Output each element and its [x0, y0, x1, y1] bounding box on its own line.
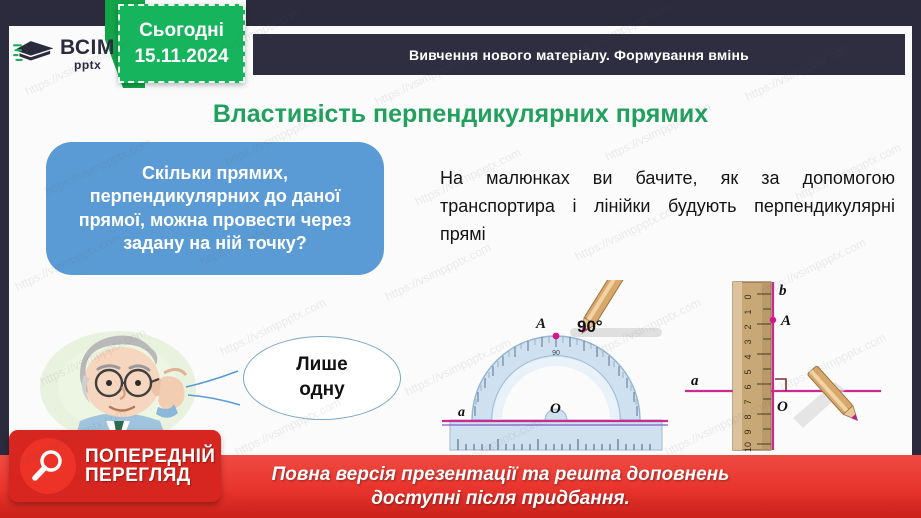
speech-bubble: Лише одну — [243, 336, 401, 420]
question-box: Скільки прямих, перпендикулярних до дано… — [46, 142, 384, 275]
label-line-b: b — [779, 283, 787, 299]
ruler-tick-10: 10 — [743, 442, 753, 452]
speech-bubble-line1: Лише — [296, 353, 347, 378]
logo-subtitle: pptx — [74, 59, 115, 71]
preview-button[interactable]: ПОПЕРЕДНІЙ ПЕРЕГЛЯД — [9, 430, 221, 502]
label-point-a: A — [780, 313, 791, 329]
ruler-tick-1: 1 — [743, 309, 753, 314]
label-point-o: O — [777, 399, 788, 415]
preview-button-line1: ПОПЕРЕДНІЙ — [85, 447, 215, 466]
logo-title: ВСІМ — [60, 37, 115, 58]
date-badge: Сьогодні 15.11.2024 — [118, 4, 245, 83]
ruler-tick-4: 4 — [743, 354, 753, 359]
ruler-tick-3: 3 — [743, 339, 753, 344]
speech-bubble-line2: одну — [299, 378, 344, 403]
ruler-tick-2: 2 — [743, 324, 753, 329]
intro-paragraph: На малюнках ви бачите, як за допомогою т… — [440, 165, 895, 249]
ruler-tick-9: 9 — [743, 429, 753, 434]
page-title: Властивість перпендикулярних прямих — [0, 100, 921, 129]
ruler-figure: 0 1 2 3 4 5 6 7 8 9 10 A b a O — [685, 278, 921, 458]
label-line-a: a — [458, 405, 465, 420]
header-banner-text: Вивчення нового матеріалу. Формування вм… — [409, 47, 749, 63]
graduation-cap-icon — [13, 37, 55, 71]
ruler-tick-5: 5 — [743, 369, 753, 374]
date-badge-date: 15.11.2024 — [134, 46, 228, 68]
magnifier-icon — [20, 438, 76, 494]
frame-border-top-right — [246, 0, 921, 26]
svg-text:90: 90 — [552, 350, 560, 357]
ruler-tick-6: 6 — [743, 384, 753, 389]
label-point-o: O — [550, 401, 561, 417]
header-banner: Вивчення нового матеріалу. Формування вм… — [253, 34, 905, 75]
date-badge-label: Сьогодні — [139, 20, 224, 42]
label-angle-90: 90° — [577, 317, 603, 336]
label-line-a: a — [691, 373, 699, 389]
slide-canvas: ВСІМ pptx Сьогодні 15.11.2024 Вивчення н… — [0, 0, 921, 518]
brand-logo: ВСІМ pptx — [13, 30, 113, 78]
label-point-a: A — [535, 316, 546, 332]
footer-line2: доступні після придбання. — [272, 487, 730, 511]
question-box-text: Скільки прямих, перпендикулярних до дано… — [60, 162, 370, 254]
ruler-tick-8: 8 — [743, 414, 753, 419]
ruler-tick-0: 0 — [743, 294, 753, 299]
footer-line1: Повна версія презентації та решта доповн… — [272, 463, 730, 487]
preview-button-line2: ПЕРЕГЛЯД — [85, 466, 215, 485]
frame-border-left — [0, 0, 9, 518]
frame-border-top-left — [0, 0, 120, 26]
protractor-figure: 90 A 90° O a — [432, 280, 677, 455]
ruler-tick-7: 7 — [743, 399, 753, 404]
